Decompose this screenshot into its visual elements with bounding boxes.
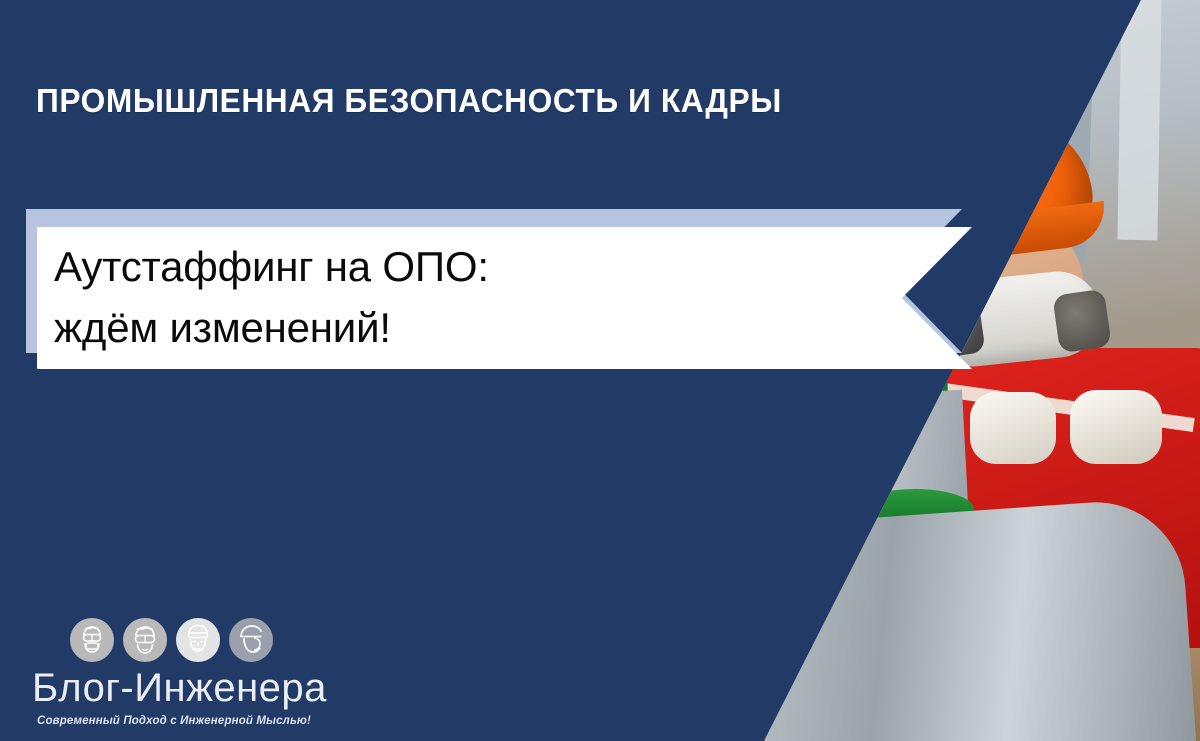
page-kicker: ПРОМЫШЛЕННАЯ БЕЗОПАСНОСТЬ И КАДРЫ (36, 84, 782, 117)
page-title: Аутстаффинг на ОПО: ждём изменений! (54, 236, 489, 358)
red-valve-wheel (730, 348, 813, 592)
valve-arm (730, 465, 773, 555)
avatar-visor-profile (229, 618, 273, 662)
avatar-row (70, 618, 273, 662)
avatar-beanie-face (176, 618, 220, 662)
avatar-safety-glasses (123, 618, 167, 662)
logo-wordmark: Блог-Инженера (32, 668, 327, 708)
poster-canvas: ПРОМЫШЛЕННАЯ БЕЗОПАСНОСТЬ И КАДРЫ Аутста… (0, 0, 1200, 741)
title-banner: Аутстаффинг на ОПО: ждём изменений! (37, 227, 972, 369)
logo-tagline: Современный Подход с Инженерной Мыслью! (37, 715, 311, 727)
photo-overlay (730, 0, 1200, 741)
industrial-photo (730, 0, 1200, 741)
scaffold-bar (956, 0, 1007, 311)
avatar-goggles-respirator (70, 618, 114, 662)
